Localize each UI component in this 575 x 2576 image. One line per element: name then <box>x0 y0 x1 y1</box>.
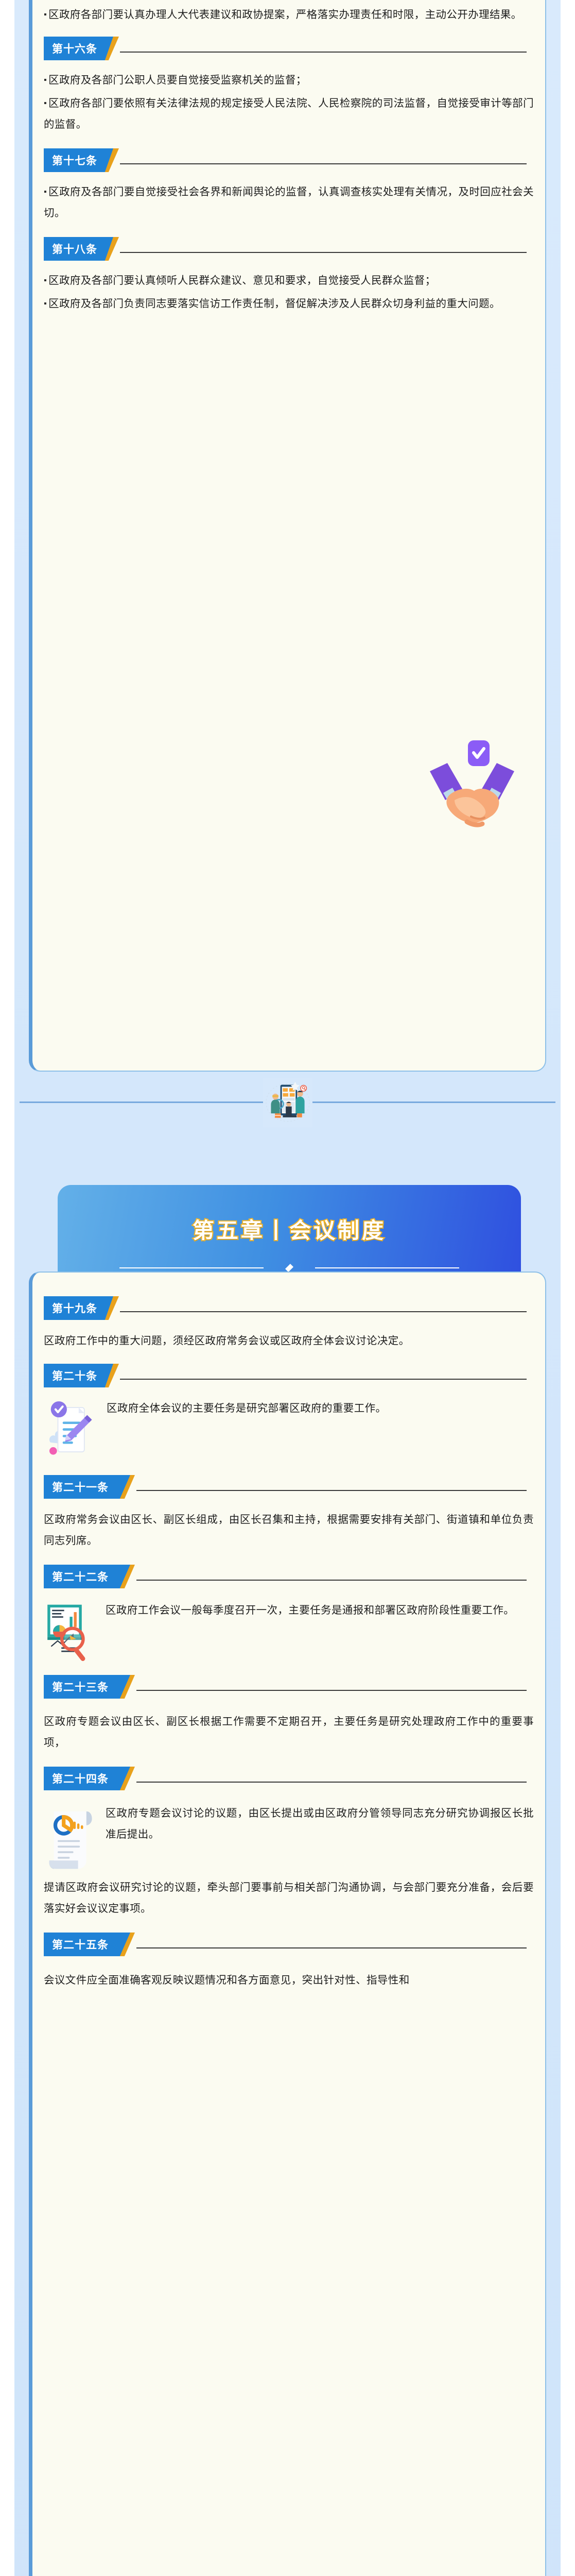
article-label: 第十八条 <box>44 241 97 257</box>
article-badge-16: 第十六条 <box>44 37 113 60</box>
article-header-23: 第二十三条 <box>44 1675 534 1699</box>
chart-magnifier-icon <box>44 1601 99 1662</box>
infographic-page: ▪区政府各部门要认真办理人大代表建议和政协提案，严格落实办理责任和时限，主动公开… <box>0 0 575 2576</box>
article-18-para-1: ▪区政府及各部门要认真倾听人民群众建议、意见和要求，自觉接受人民群众监督； <box>44 270 534 291</box>
article-header-24: 第二十四条 <box>44 1767 534 1790</box>
article-22-para-1: 区政府工作会议一般每季度召开一次，主要任务是通报和部署区政府阶段性重要工作。 <box>44 1600 534 1621</box>
article-badge-19: 第十九条 <box>44 1296 113 1320</box>
scroll-donut-chart-icon <box>44 1804 99 1874</box>
chapter-divider-ornament <box>119 1264 459 1272</box>
article-label: 第十九条 <box>44 1300 97 1316</box>
article-badge-24: 第二十四条 <box>44 1767 130 1790</box>
article-18-para-2: ▪区政府及各部门负责同志要落实信访工作责任制，督促解决涉及人民群众切身利益的重大… <box>44 293 534 314</box>
article-rule <box>136 1782 527 1783</box>
article-rule <box>120 252 527 253</box>
article-label: 第十七条 <box>44 152 97 168</box>
article-label: 第二十四条 <box>44 1771 109 1786</box>
article-header-21: 第二十一条 <box>44 1475 534 1499</box>
article-23-para-1: 区政府专题会议由区长、副区长根据工作需要不定期召开，主要任务是研究处理政府工作中… <box>44 1711 534 1753</box>
content-card-two: 第十九条 区政府工作中的重大问题，须经区政府常务会议或区政府全体会议讨论决定。 … <box>29 1272 546 2576</box>
document-pencil-check-icon <box>44 1399 100 1461</box>
section-divider <box>14 1072 561 1133</box>
article-rule <box>136 1690 527 1691</box>
article-16-para-1: ▪区政府及各部门公职人员要自觉接受监察机关的监督； <box>44 70 534 91</box>
article-label: 第二十三条 <box>44 1679 109 1694</box>
article-badge-17: 第十七条 <box>44 148 113 172</box>
article-label: 第二十一条 <box>44 1479 109 1495</box>
bullet-icon: ▪ <box>44 299 47 308</box>
article-rule <box>136 1580 527 1581</box>
article-rule <box>120 1311 527 1312</box>
article-rule <box>136 1490 527 1491</box>
article-label: 第二十条 <box>44 1368 97 1383</box>
content-card-one: ▪区政府各部门要认真办理人大代表建议和政协提案，严格落实办理责任和时限，主动公开… <box>29 0 546 1072</box>
article-label: 第十六条 <box>44 41 97 56</box>
article-19-para-1: 区政府工作中的重大问题，须经区政府常务会议或区政府全体会议讨论决定。 <box>44 1330 534 1351</box>
article-25-para-1: 会议文件应全面准确客观反映议题情况和各方面意见，突出针对性、指导性和 <box>44 1970 534 1991</box>
article-rule <box>136 1947 527 1948</box>
article-21-para-1: 区政府常务会议由区长、副区长组成，由区长召集和主持，根据需要安排有关部门、街道镇… <box>44 1509 534 1551</box>
article-24-para-2: 提请区政府会议研究讨论的议题，牵头部门要事前与相关部门沟通协调，与会部门要充分准… <box>44 1877 534 1919</box>
article-label: 第二十五条 <box>44 1937 109 1952</box>
bullet-icon: ▪ <box>44 188 47 196</box>
handshake-icon <box>421 739 524 837</box>
article-badge-25: 第二十五条 <box>44 1933 130 1956</box>
article-header-19: 第十九条 <box>44 1296 534 1320</box>
people-reviewing-board-icon <box>263 1078 312 1127</box>
article-badge-20: 第二十条 <box>44 1364 113 1387</box>
article-header-22: 第二十二条 <box>44 1565 534 1588</box>
article-rule <box>120 52 527 53</box>
bullet-icon: ▪ <box>44 276 47 285</box>
article-17-para-1: ▪区政府及各部门要自觉接受社会各界和新闻舆论的监督，认真调查核实处理有关情况，及… <box>44 181 534 224</box>
article-rule <box>120 163 527 164</box>
article-badge-23: 第二十三条 <box>44 1675 130 1699</box>
article-16-para-2: ▪区政府各部门要依照有关法律法规的规定接受人民法院、人民检察院的司法监督，自觉接… <box>44 93 534 135</box>
article-24-para-1: 区政府专题会议讨论的议题，由区长提出或由区政府分管领导同志充分研究协调报区长批准… <box>44 1803 534 1845</box>
bullet-icon: ▪ <box>44 76 47 84</box>
bullet-icon: ▪ <box>44 99 47 108</box>
article-header-17: 第十七条 <box>44 148 534 172</box>
article-header-25: 第二十五条 <box>44 1933 534 1956</box>
article-badge-22: 第二十二条 <box>44 1565 130 1588</box>
article-20-para-1: 区政府全体会议的主要任务是研究部署区政府的重要工作。 <box>44 1398 534 1419</box>
article-header-16: 第十六条 <box>44 37 534 60</box>
article-header-18: 第十八条 <box>44 237 534 261</box>
article-badge-18: 第十八条 <box>44 237 113 261</box>
intro-paragraph: ▪区政府各部门要认真办理人大代表建议和政协提案，严格落实办理责任和时限，主动公开… <box>44 4 534 25</box>
article-badge-21: 第二十一条 <box>44 1475 130 1499</box>
chapter-title: 第五章丨会议制度 <box>193 1213 386 1245</box>
article-header-20: 第二十条 <box>44 1364 534 1387</box>
bullet-icon: ▪ <box>44 10 47 19</box>
article-label: 第二十二条 <box>44 1569 109 1584</box>
article-rule <box>120 1379 527 1380</box>
